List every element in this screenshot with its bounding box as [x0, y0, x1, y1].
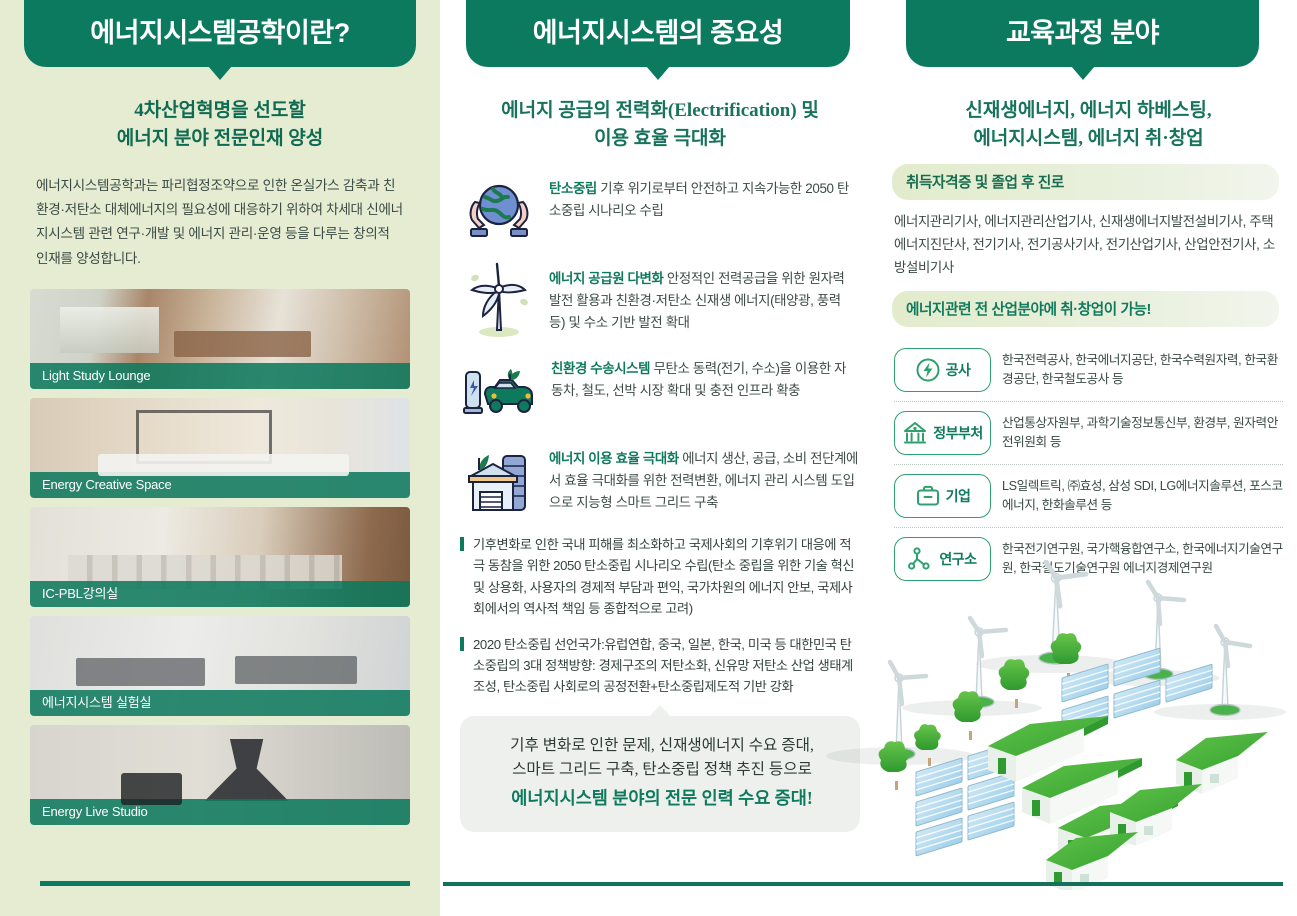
left-header-tab: 에너지시스템공학이란?	[24, 0, 416, 67]
career-label: 공사	[946, 360, 971, 380]
middle-tab-title: 에너지시스템의 중요성	[466, 0, 850, 67]
electric-car-charging-icon	[462, 354, 538, 428]
right-subtitle: 신재생에너지, 에너지 하베스팅, 에너지시스템, 에너지 취·창업	[880, 97, 1297, 152]
feature-text: 에너지 공급원 다변화 안정적인 전력공급을 위한 원자력 발전 활용과 친환경…	[549, 264, 858, 333]
right-tab-title: 교육과정 분야	[906, 0, 1259, 67]
career-chip: 기업	[894, 474, 991, 518]
feature-text: 탄소중립 기후 위기로부터 안전하고 지속가능한 2050 탄소중립 시나리오 …	[549, 174, 858, 221]
right-subtitle-line1: 신재생에너지, 에너지 하베스팅,	[880, 97, 1297, 125]
right-header-tab: 교육과정 분야	[906, 0, 1259, 67]
briefcase-icon	[915, 483, 941, 509]
career-label: 정부부처	[933, 423, 983, 443]
career-text: 산업통상자원부, 과학기술정보통신부, 환경부, 원자력안전위원회 등	[1002, 414, 1283, 453]
right-subtitle-line2: 에너지시스템, 에너지 취·창업	[880, 125, 1297, 153]
left-intro-paragraph: 에너지시스템공학과는 파리협정조약으로 인한 온실가스 감축과 친환경·저탄소 …	[36, 174, 404, 271]
left-subtitle-line2: 에너지 분야 전문인재 양성	[0, 125, 440, 153]
left-subtitle-line1: 4차산업혁명을 선도할	[0, 97, 440, 125]
bolt-circle-icon	[915, 357, 941, 383]
certificates-text: 에너지관리기사, 에너지관리산업기사, 신재생에너지발전설비기사, 주택에너지진…	[894, 211, 1283, 279]
careers-pill: 에너지관련 전 산업분야에 취·창업이 가능!	[892, 291, 1279, 327]
career-row: 공사 한국전력공사, 한국에너지공단, 한국수력원자력, 한국환경공단, 한국철…	[894, 339, 1283, 402]
callout-line2: 스마트 그리드 구축, 탄소중립 정책 추진 등으로	[482, 758, 842, 782]
career-chip: 공사	[894, 348, 991, 392]
middle-header-tab: 에너지시스템의 중요성	[466, 0, 850, 67]
callout-highlight: 에너지시스템 분야의 전문 인력 수요 증대!	[482, 785, 842, 812]
photo-card: Energy Live Studio	[30, 725, 410, 825]
feature-heading: 친환경 수송시스템	[551, 361, 650, 376]
certificates-pill: 취득자격증 및 졸업 후 진로	[892, 164, 1279, 200]
feature-item: 에너지 이용 효율 극대화 에너지 생산, 공급, 소비 전단계에서 효율 극대…	[462, 444, 858, 518]
policy-notes: 기후변화로 인한 국내 피해를 최소화하고 국제사회의 기후위기 대응에 적극 …	[460, 534, 860, 698]
middle-subtitle: 에너지 공급의 전력화(Electrification) 및 이용 효율 극대화	[440, 97, 880, 152]
note-item: 기후변화로 인한 국내 피해를 최소화하고 국제사회의 기후위기 대응에 적극 …	[460, 534, 860, 620]
career-text: LS일렉트릭, ㈜효성, 삼성 SDI, LG에너지솔루션, 포스코에너지, 한…	[1002, 477, 1283, 516]
photo-caption: 에너지시스템 실험실	[30, 690, 410, 716]
career-chip: 정부부처	[894, 411, 991, 455]
middle-subtitle-line2: 이용 효율 극대화	[440, 125, 880, 153]
feature-item: 친환경 수송시스템 무탄소 동력(전기, 수소)을 이용한 자동차, 철도, 선…	[462, 354, 858, 428]
career-row: 기업 LS일렉트릭, ㈜효성, 삼성 SDI, LG에너지솔루션, 포스코에너지…	[894, 465, 1283, 528]
government-building-icon	[902, 420, 928, 446]
feature-text: 에너지 이용 효율 극대화 에너지 생산, 공급, 소비 전단계에서 효율 극대…	[549, 444, 858, 513]
earth-in-hands-icon	[462, 174, 536, 248]
callout-line1: 기후 변화로 인한 문제, 신재생에너지 수요 증대,	[482, 734, 842, 758]
left-bottom-rule	[40, 881, 410, 886]
facility-photo-list: Light Study Lounge Energy Creative Space…	[30, 289, 410, 825]
importance-feature-list: 탄소중립 기후 위기로부터 안전하고 지속가능한 2050 탄소중립 시나리오 …	[462, 174, 858, 518]
photo-caption: Energy Creative Space	[30, 472, 410, 498]
column-curriculum-fields: 교육과정 분야 신재생에너지, 에너지 하베스팅, 에너지시스템, 에너지 취·…	[880, 0, 1297, 916]
feature-heading: 탄소중립	[549, 181, 597, 196]
feature-item: 탄소중립 기후 위기로부터 안전하고 지속가능한 2050 탄소중립 시나리오 …	[462, 174, 858, 248]
photo-caption: Energy Live Studio	[30, 799, 410, 825]
renewable-energy-village-illustration	[810, 560, 1297, 890]
middle-subtitle-line1: 에너지 공급의 전력화(Electrification) 및	[440, 97, 880, 125]
career-label: 기업	[946, 486, 971, 506]
photo-card: IC-PBL강의실	[30, 507, 410, 607]
career-category-list: 공사 한국전력공사, 한국에너지공단, 한국수력원자력, 한국환경공단, 한국철…	[894, 339, 1283, 590]
career-text: 한국전력공사, 한국에너지공단, 한국수력원자력, 한국환경공단, 한국철도공사…	[1002, 351, 1283, 390]
column-what-is-energy-systems-engineering: 에너지시스템공학이란? 4차산업혁명을 선도할 에너지 분야 전문인재 양성 에…	[0, 0, 440, 916]
photo-caption: Light Study Lounge	[30, 363, 410, 389]
photo-card: Energy Creative Space	[30, 398, 410, 498]
feature-heading: 에너지 공급원 다변화	[549, 271, 663, 286]
brochure-page: 에너지시스템공학이란? 4차산업혁명을 선도할 에너지 분야 전문인재 양성 에…	[0, 0, 1297, 916]
eco-factory-icon	[462, 444, 536, 518]
feature-item: 에너지 공급원 다변화 안정적인 전력공급을 위한 원자력 발전 활용과 친환경…	[462, 264, 858, 338]
feature-text: 친환경 수송시스템 무탄소 동력(전기, 수소)을 이용한 자동차, 철도, 선…	[551, 354, 858, 401]
photo-caption: IC-PBL강의실	[30, 581, 410, 607]
left-tab-title: 에너지시스템공학이란?	[24, 0, 416, 67]
demand-callout: 기후 변화로 인한 문제, 신재생에너지 수요 증대, 스마트 그리드 구축, …	[460, 716, 860, 832]
note-item: 2020 탄소중립 선언국가:유럽연합, 중국, 일본, 한국, 미국 등 대한…	[460, 634, 860, 698]
feature-heading: 에너지 이용 효율 극대화	[549, 451, 679, 466]
career-row: 정부부처 산업통상자원부, 과학기술정보통신부, 환경부, 원자력안전위원회 등	[894, 402, 1283, 465]
wind-turbine-icon	[462, 264, 536, 338]
photo-card: 에너지시스템 실험실	[30, 616, 410, 716]
left-subtitle: 4차산업혁명을 선도할 에너지 분야 전문인재 양성	[0, 97, 440, 152]
photo-card: Light Study Lounge	[30, 289, 410, 389]
bottom-rule	[443, 882, 1283, 886]
